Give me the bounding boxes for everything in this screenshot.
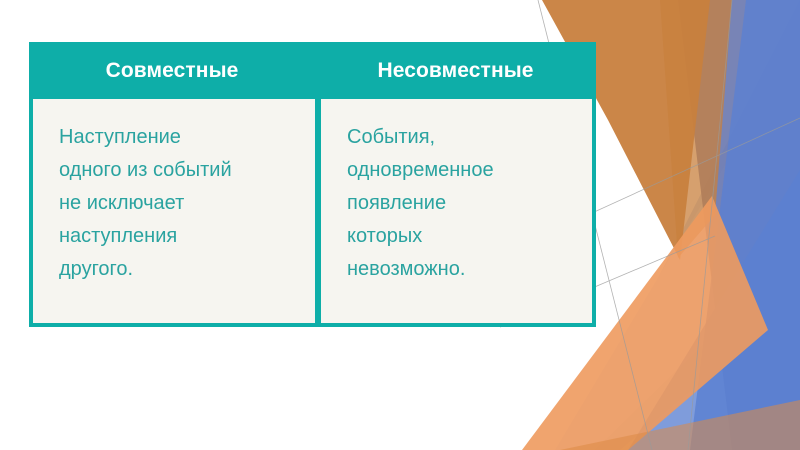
table-header-incompatible: Несовместные: [315, 60, 596, 81]
hairline-right: [688, 0, 732, 450]
orange-upper-band-right: [660, 0, 732, 258]
table-cell-incompatible-definition: События, одновременное появление которых…: [321, 99, 592, 323]
orange-bottom-wedge: [560, 400, 800, 450]
table-header-row: Совместные Несовместные: [29, 42, 596, 99]
table-cell-compatible-definition: Наступление одного из событий не исключа…: [33, 99, 315, 323]
table-body-row: Наступление одного из событий не исключа…: [29, 99, 596, 327]
pale-blue-wedge-upper: [570, 0, 800, 450]
table-header-compatible: Совместные: [29, 60, 315, 81]
slide-canvas: Совместные Несовместные Наступление одно…: [0, 0, 800, 450]
decor-blue-violet-shapes: [628, 0, 800, 450]
comparison-table: Совместные Несовместные Наступление одно…: [29, 42, 596, 327]
blue-violet-column: [678, 0, 800, 450]
cornflower-right-panel: [690, 0, 800, 450]
cornflower-lower-wedge: [628, 170, 800, 450]
